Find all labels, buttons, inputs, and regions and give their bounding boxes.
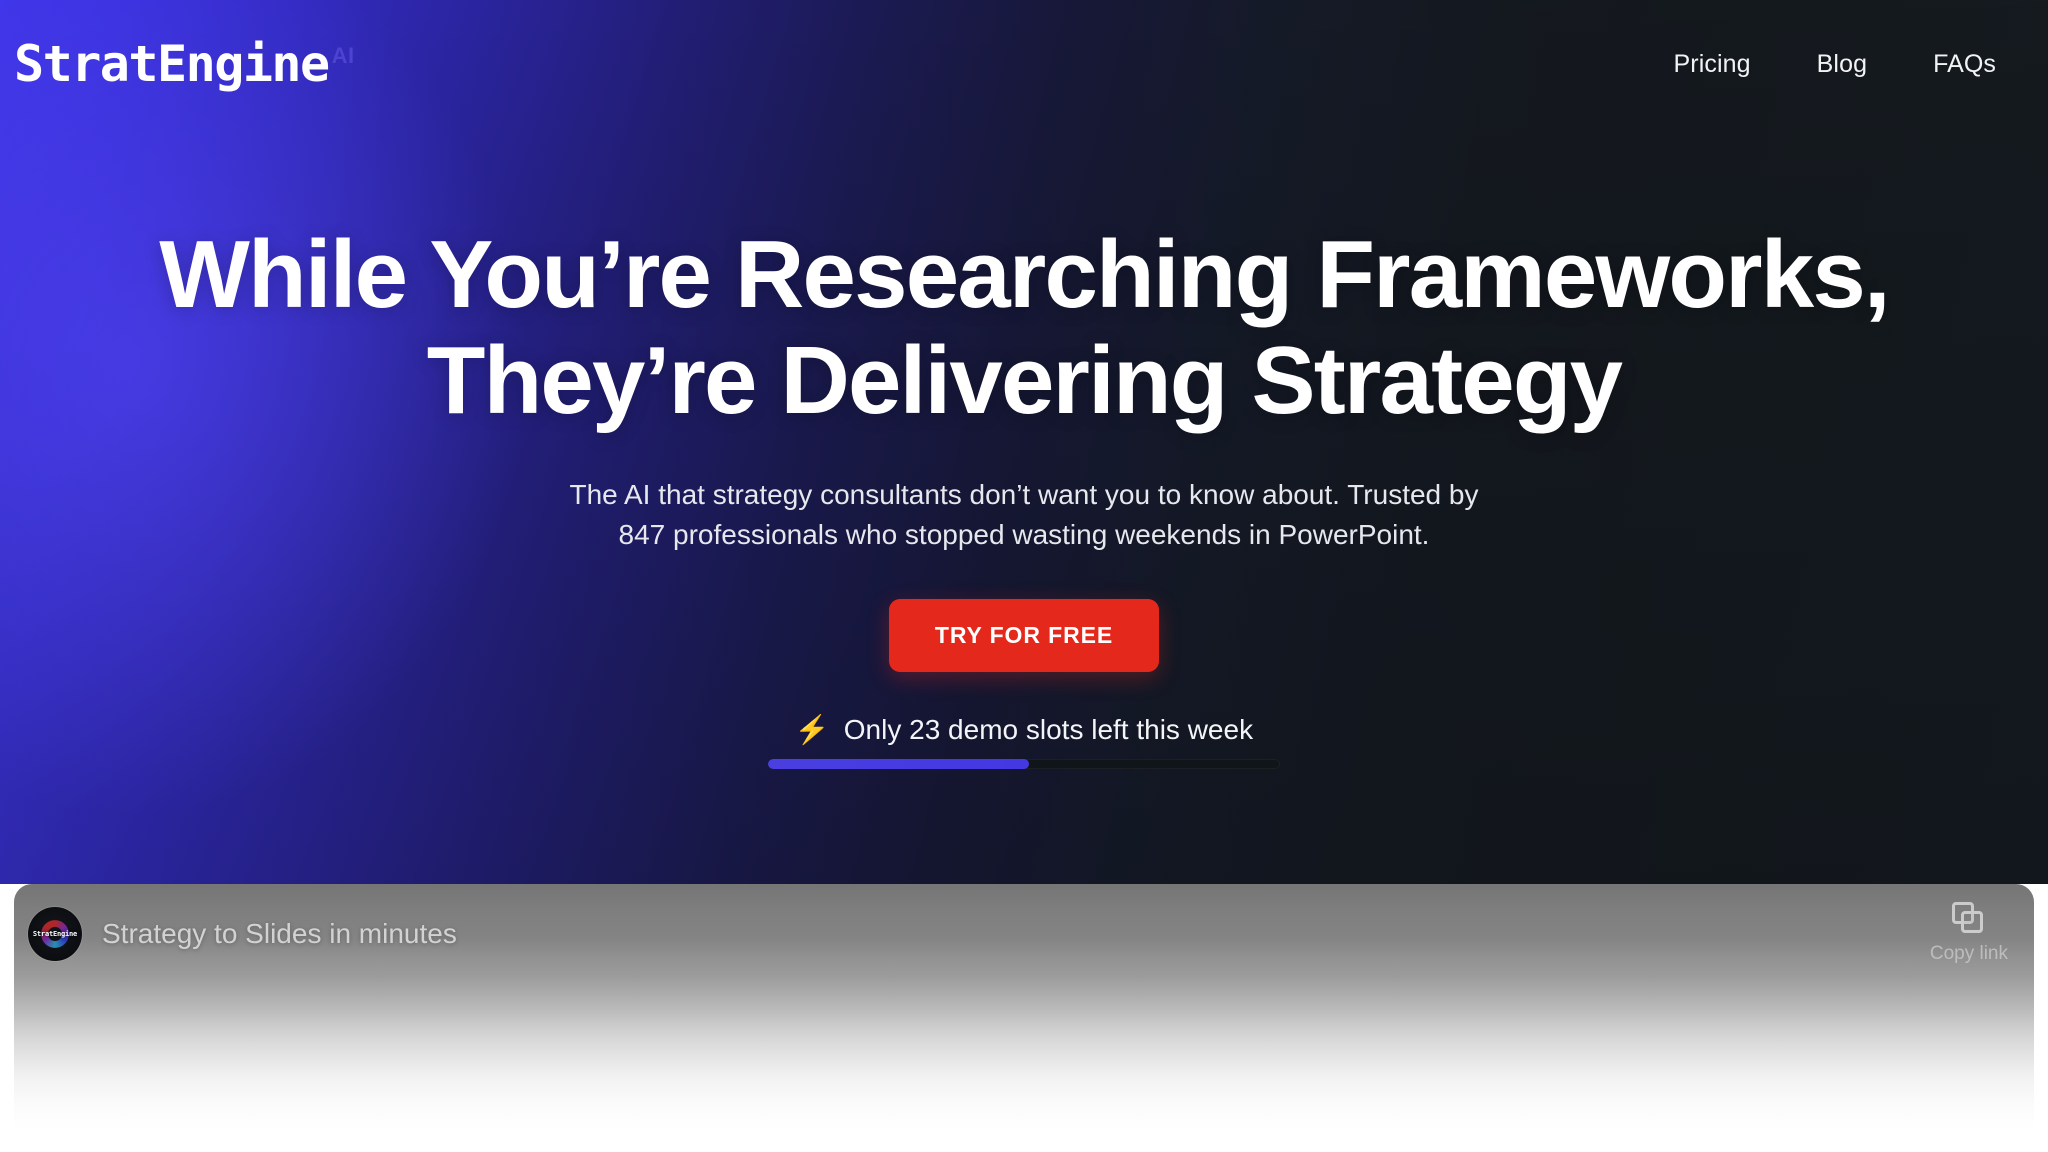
demo-slots-progress-fill (768, 759, 1029, 769)
nav-item-pricing[interactable]: Pricing (1674, 50, 1751, 79)
site-header: StratEngine AI Pricing Blog FAQs (0, 0, 2048, 128)
video-title[interactable]: Strategy to Slides in minutes (102, 918, 457, 950)
channel-avatar[interactable]: StratEngine (28, 907, 82, 961)
brand-logo[interactable]: StratEngine AI (14, 39, 355, 89)
copy-icon (1952, 902, 1986, 936)
urgency-text: Only 23 demo slots left this week (844, 714, 1253, 746)
copy-link-label: Copy link (1930, 943, 2008, 965)
video-player[interactable]: StratEngine Strategy to Slides in minute… (14, 884, 2034, 1152)
hero-section: StratEngine AI Pricing Blog FAQs While Y… (0, 0, 2048, 884)
lightning-bolt-icon: ⚡ (795, 716, 830, 744)
urgency-block: ⚡ Only 23 demo slots left this week (768, 714, 1280, 769)
try-for-free-button[interactable]: TRY FOR FREE (889, 599, 1159, 672)
video-header-bar: StratEngine Strategy to Slides in minute… (14, 884, 2034, 965)
hero-subheadline: The AI that strategy consultants don’t w… (559, 475, 1489, 555)
landing-page: StratEngine AI Pricing Blog FAQs While Y… (0, 0, 2048, 1152)
brand-name: StratEngine (14, 39, 329, 89)
nav-item-blog[interactable]: Blog (1817, 50, 1867, 79)
hero-content: While You’re Researching Frameworks, The… (0, 0, 2048, 884)
copy-link-button[interactable]: Copy link (1930, 902, 2008, 965)
primary-navigation: Pricing Blog FAQs (1674, 50, 1996, 79)
nav-item-faqs[interactable]: FAQs (1933, 50, 1996, 79)
video-header-left: StratEngine Strategy to Slides in minute… (28, 907, 457, 961)
brand-superscript: AI (332, 45, 355, 67)
page-title: While You’re Researching Frameworks, The… (124, 222, 1924, 433)
avatar-label: StratEngine (33, 930, 77, 938)
urgency-row: ⚡ Only 23 demo slots left this week (795, 714, 1253, 746)
demo-slots-progress-bar (768, 759, 1280, 769)
cta-container: TRY FOR FREE (889, 599, 1159, 672)
